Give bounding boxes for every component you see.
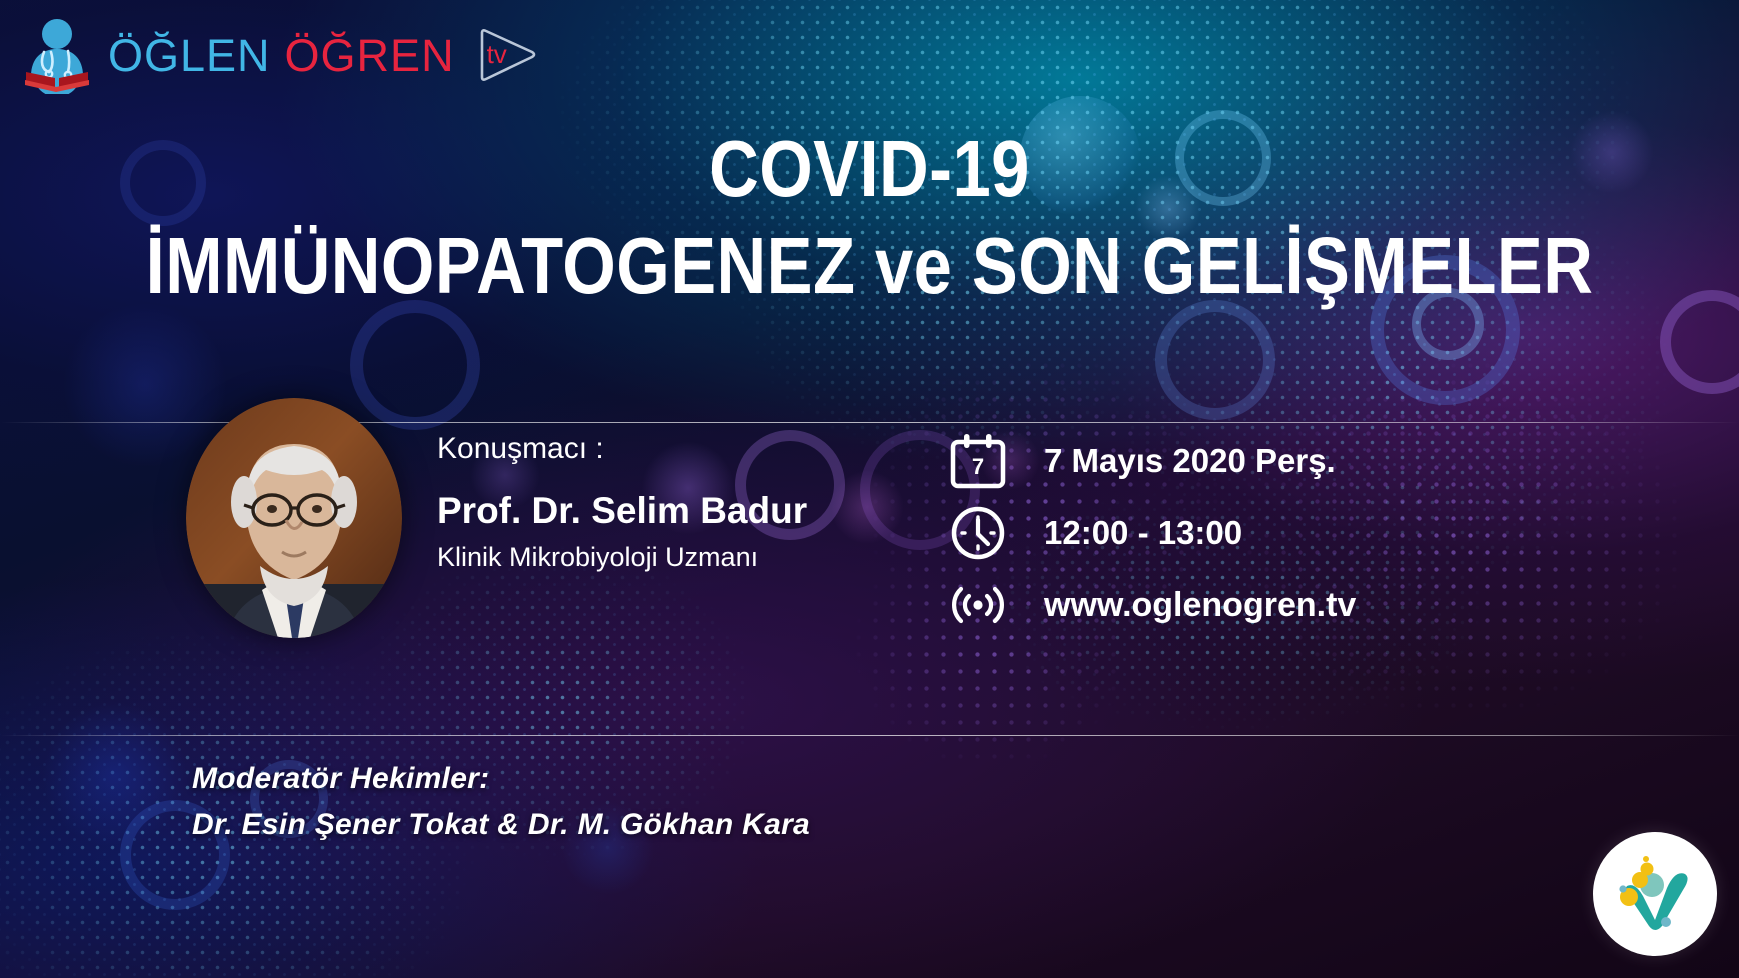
clock-icon [942, 504, 1014, 562]
event-website-row[interactable]: www.oglenogren.tv [942, 569, 1356, 641]
speaker-role: Klinik Mikrobiyoloji Uzmanı [437, 542, 937, 573]
speaker-label: Konuşmacı : [437, 432, 937, 466]
speaker-info: Konuşmacı : Prof. Dr. Selim Badur Klinik… [437, 432, 937, 573]
poster-title: COVID-19 İMMÜNOPATOGENEZ ve SON GELİŞMEL… [0, 126, 1739, 312]
brand-word-oglen: ÖĞLEN [108, 33, 271, 78]
event-date-row: 7 7 Mayıs 2020 Perş. [942, 425, 1356, 497]
broadcast-icon [942, 576, 1014, 634]
moderator-names: Dr. Esin Şener Tokat & Dr. M. Gökhan Kar… [192, 808, 810, 842]
brand-word-ogren: ÖĞREN [285, 33, 455, 78]
event-details: 7 7 Mayıs 2020 Perş. 12:00 - 13:00 [942, 425, 1356, 641]
moderator-info: Moderatör Hekimler: Dr. Esin Şener Tokat… [192, 762, 810, 842]
event-time-row: 12:00 - 13:00 [942, 497, 1356, 569]
speaker-photo [186, 398, 402, 638]
event-time-text: 12:00 - 13:00 [1044, 514, 1242, 552]
event-website-text[interactable]: www.oglenogren.tv [1044, 586, 1356, 625]
divider-bottom [0, 735, 1739, 736]
title-line-2: İMMÜNOPATOGENEZ ve SON GELİŞMELER [122, 220, 1618, 312]
webinar-poster: ÖĞLEN ÖĞREN tv COVID-19 İMMÜNOPATOGENEZ … [0, 0, 1739, 978]
event-date-text: 7 Mayıs 2020 Perş. [1044, 442, 1336, 480]
tv-label: tv [487, 39, 507, 70]
speaker-name: Prof. Dr. Selim Badur [437, 490, 937, 532]
moderator-title: Moderatör Hekimler: [192, 762, 810, 796]
calendar-icon: 7 [942, 432, 1014, 490]
doctor-book-icon [20, 16, 94, 94]
brand-logo[interactable]: ÖĞLEN ÖĞREN tv [20, 16, 539, 94]
title-line-1: COVID-19 [122, 126, 1618, 212]
play-triangle-icon[interactable]: tv [475, 25, 539, 85]
calendar-day-number: 7 [949, 432, 1007, 490]
checkmark-badge-icon [1593, 832, 1717, 956]
